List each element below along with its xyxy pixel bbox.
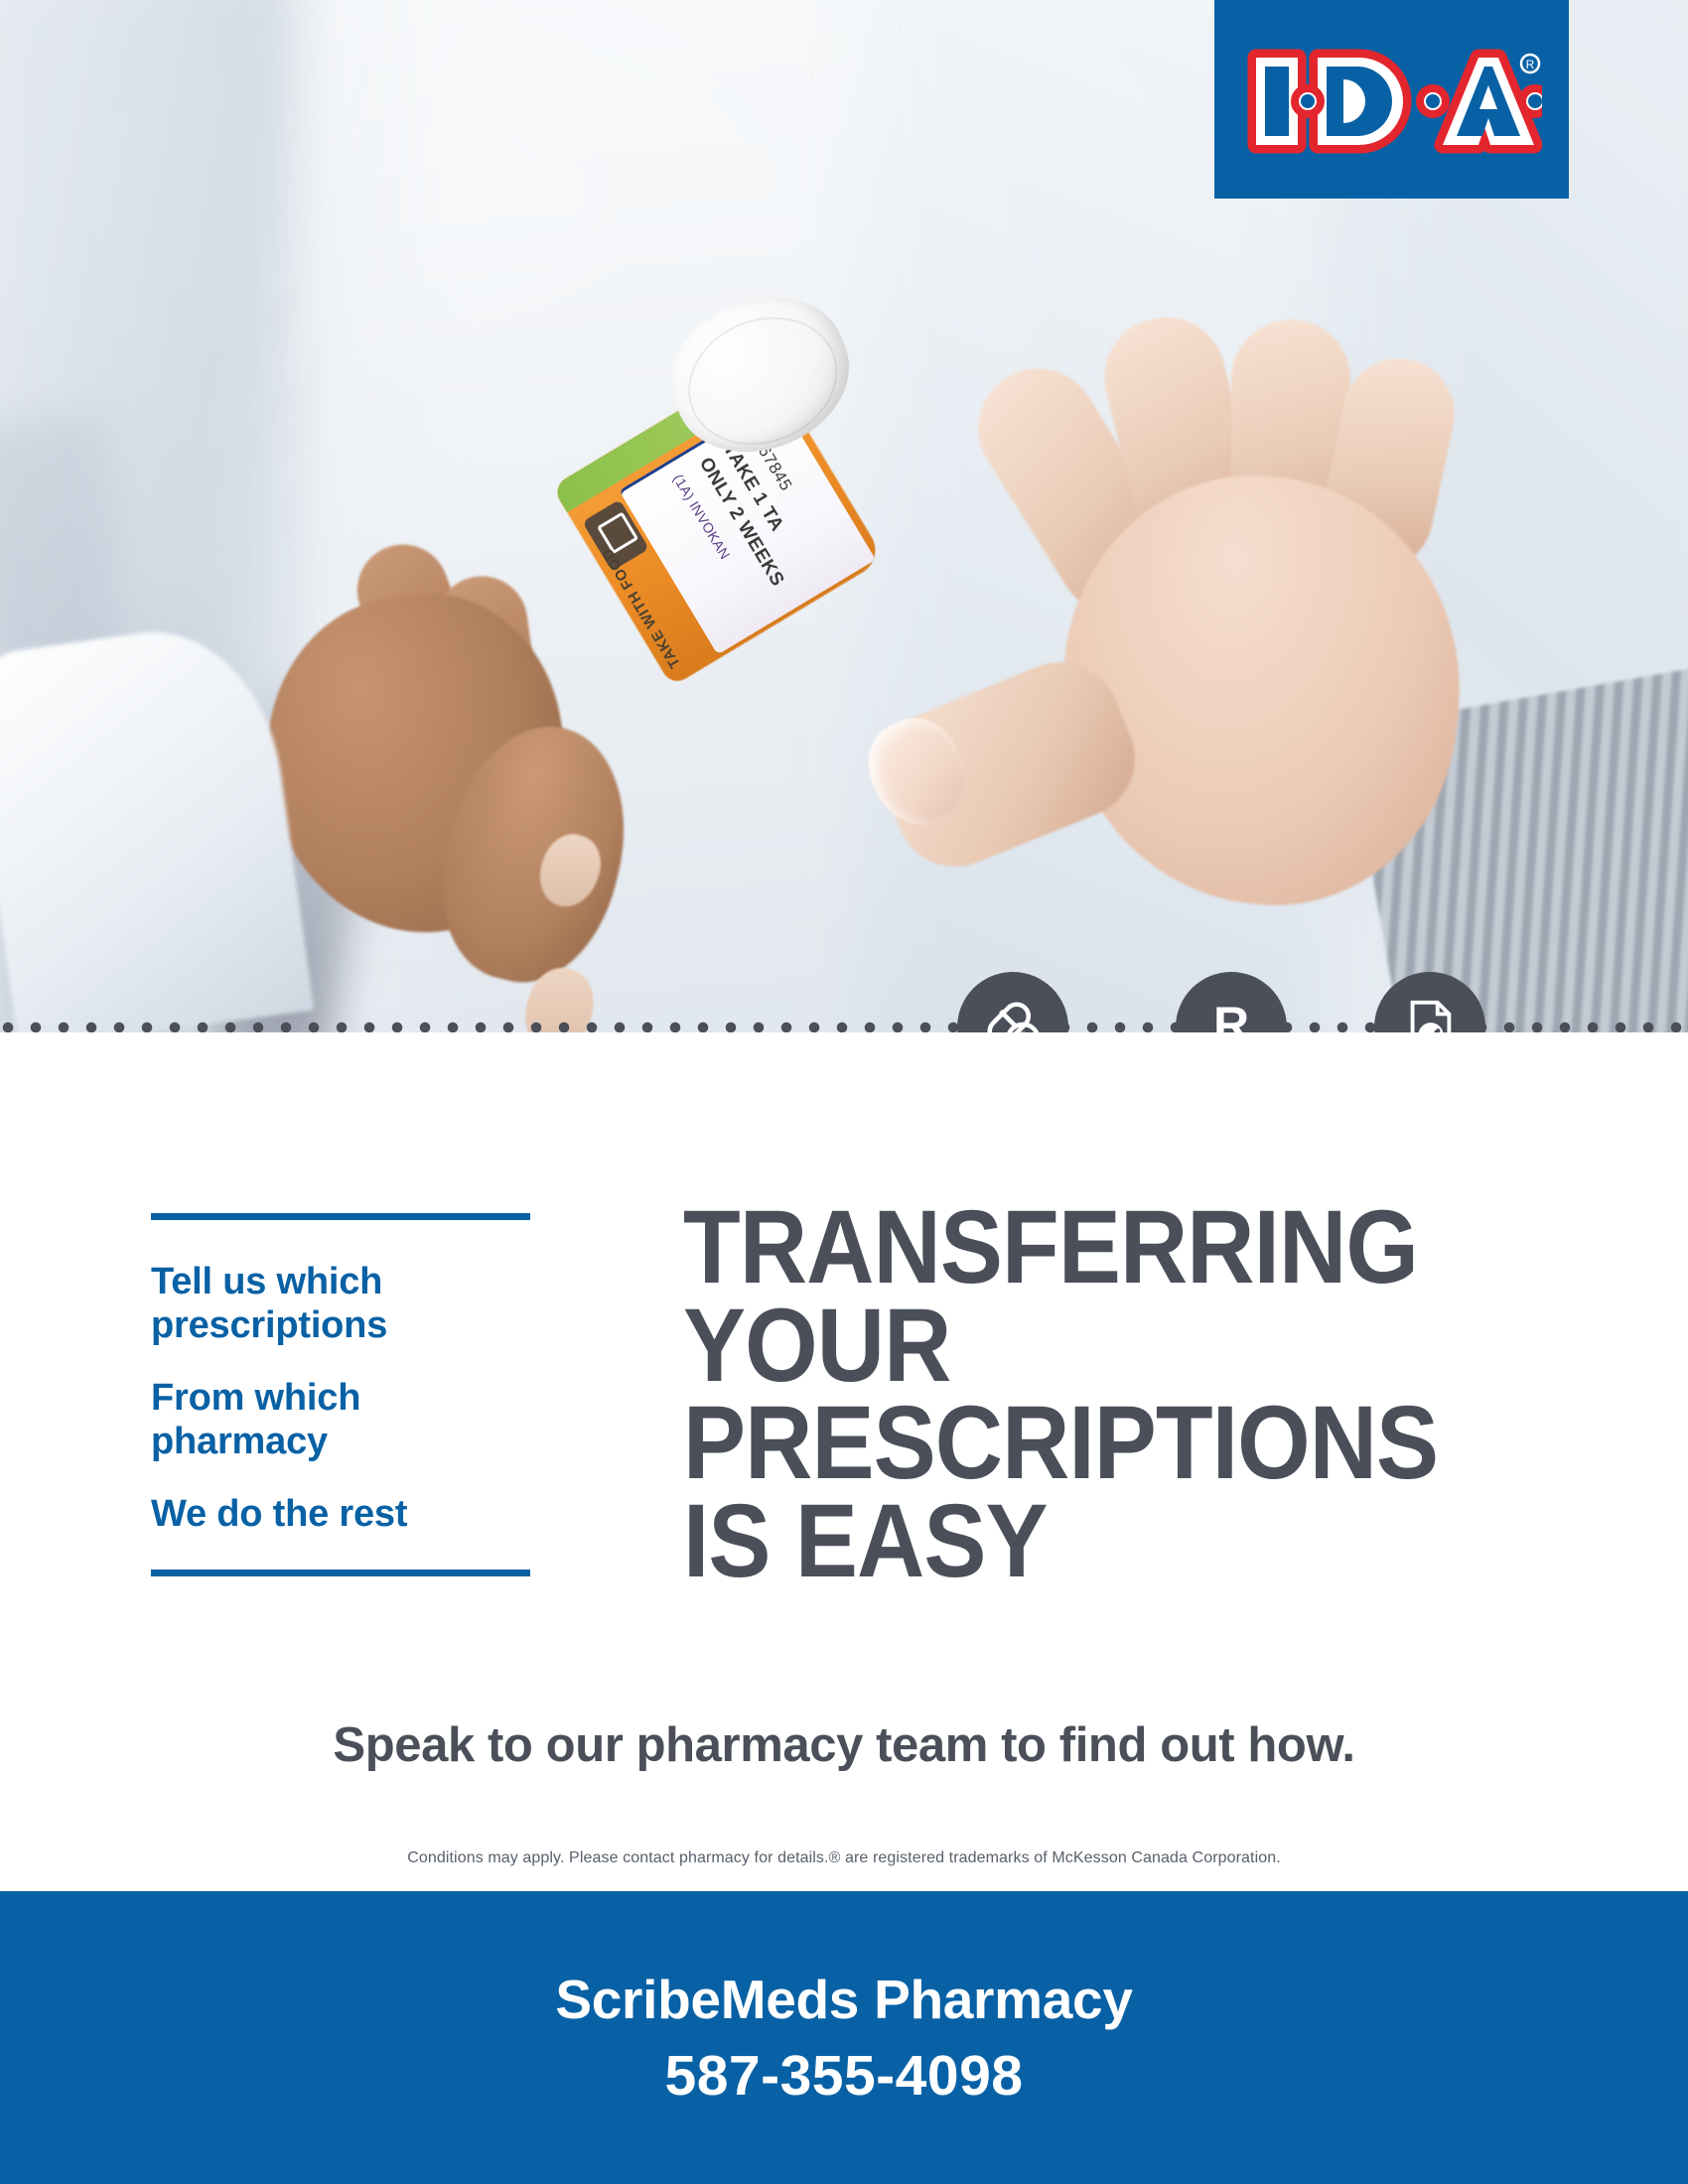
step-item: From which pharmacy — [151, 1376, 540, 1464]
customer-hand — [943, 298, 1638, 993]
svg-text:R: R — [1526, 58, 1535, 71]
headline-line: PRESCRIPTIONS — [683, 1395, 1470, 1493]
step-item: Tell us which prescriptions — [151, 1260, 540, 1348]
page-headline: TRANSFERRING YOUR PRESCRIPTIONS IS EASY — [683, 1199, 1470, 1591]
pharmacy-footer: ScribeMeds Pharmacy 587-355-4098 — [0, 1891, 1688, 2184]
tagline: Speak to our pharmacy team to find out h… — [0, 1717, 1688, 1773]
steps-bottom-rule — [151, 1570, 530, 1576]
fine-print-disclaimer: Conditions may apply. Please contact pha… — [0, 1849, 1688, 1867]
lower-content: Tell us which prescriptions From which p… — [0, 1032, 1688, 1891]
headline-line: YOUR — [683, 1297, 1470, 1396]
pharmacy-phone[interactable]: 587-355-4098 — [665, 2043, 1024, 2109]
ida-logo-mark: R — [1244, 42, 1542, 161]
steps-top-rule — [151, 1213, 530, 1220]
pharmacy-name: ScribeMeds Pharmacy — [555, 1968, 1132, 2031]
ida-logo: R — [1214, 0, 1569, 199]
step-item: We do the rest — [151, 1492, 540, 1536]
headline-line: TRANSFERRING — [683, 1199, 1470, 1297]
steps-list: Tell us which prescriptions From which p… — [151, 1213, 540, 1576]
hero-photo: TAKE WITH FOOD 1867845 TAKE 1 TA ONLY 2 … — [0, 0, 1688, 1032]
headline-line: IS EASY — [683, 1493, 1470, 1591]
